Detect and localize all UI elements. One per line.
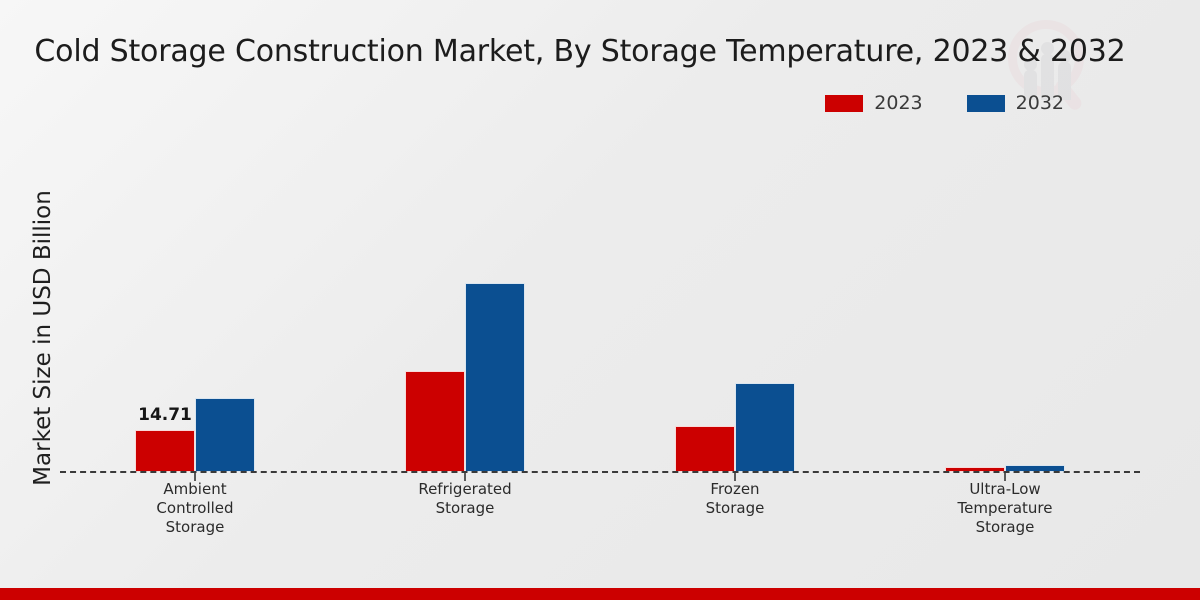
- category-label-ambient-controlled-storage: Ambient Controlled Storage: [60, 480, 330, 550]
- category-label-line: Refrigerated: [330, 480, 600, 499]
- bar-group-ambient-controlled-storage: 14.71: [60, 110, 330, 472]
- bar-2023-refrigerated-storage[interactable]: [405, 371, 465, 472]
- category-label-line: Temperature: [870, 499, 1140, 518]
- footer-accent-bar: [0, 588, 1200, 600]
- category-label-line: Storage: [870, 518, 1140, 537]
- bar-2032-refrigerated-storage[interactable]: [465, 283, 525, 472]
- category-label-line: Storage: [330, 499, 600, 518]
- category-label-line: Controlled: [60, 499, 330, 518]
- category-label-refrigerated-storage: Refrigerated Storage: [330, 480, 600, 550]
- category-label-ultra-low-temperature-storage: Ultra-Low Temperature Storage: [870, 480, 1140, 550]
- x-axis-category-labels: Ambient Controlled Storage Refrigerated …: [60, 480, 1140, 550]
- bar-group-refrigerated-storage: [330, 110, 600, 472]
- chart-container: Cold Storage Construction Market, By Sto…: [0, 0, 1200, 600]
- category-label-frozen-storage: Frozen Storage: [600, 480, 870, 550]
- legend-swatch-2032: [967, 95, 1005, 112]
- bar-group-frozen-storage: [600, 110, 870, 472]
- bar-2032-frozen-storage[interactable]: [735, 383, 795, 472]
- y-axis-title: Market Size in USD Billion: [30, 173, 56, 503]
- legend-swatch-2023: [825, 95, 863, 112]
- category-label-line: Ambient: [60, 480, 330, 499]
- category-label-line: Ultra-Low: [870, 480, 1140, 499]
- category-label-line: Frozen: [600, 480, 870, 499]
- bar-2032-ambient-controlled-storage[interactable]: [195, 398, 255, 472]
- x-axis-baseline: [60, 471, 1140, 473]
- bar-2023-frozen-storage[interactable]: [675, 426, 735, 472]
- chart-title: Cold Storage Construction Market, By Sto…: [0, 34, 1160, 69]
- bar-2023-ambient-controlled-storage[interactable]: 14.71: [135, 430, 195, 472]
- bar-groups: 14.71: [60, 110, 1140, 472]
- category-label-line: Storage: [60, 518, 330, 537]
- bar-group-ultra-low-temperature-storage: [870, 110, 1140, 472]
- category-label-line: Storage: [600, 499, 870, 518]
- bar-value-label: 14.71: [138, 405, 192, 425]
